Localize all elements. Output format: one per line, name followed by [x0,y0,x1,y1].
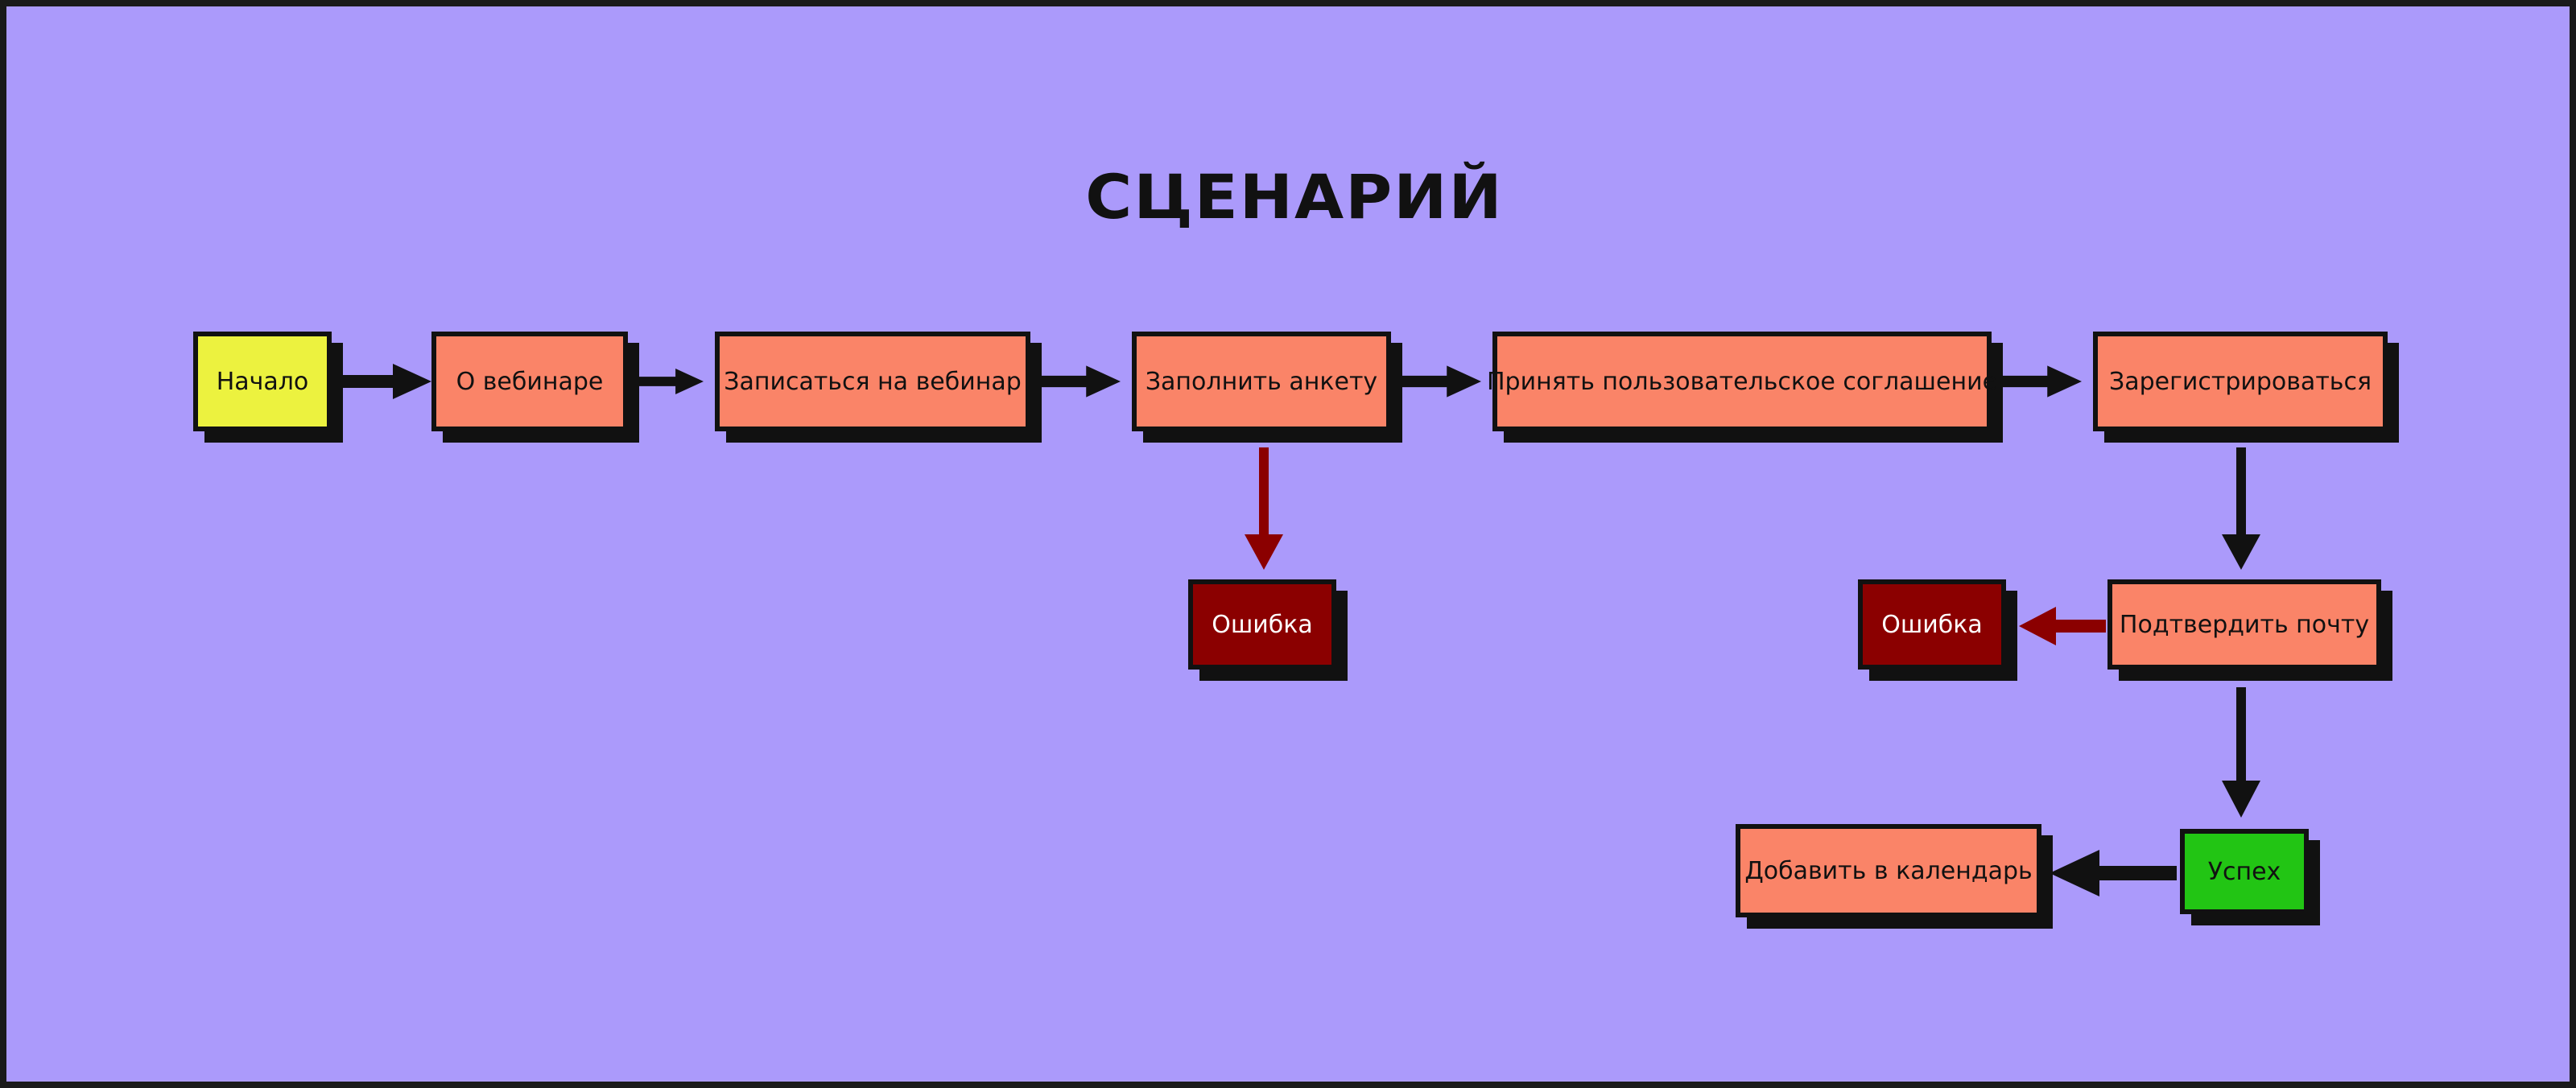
arrow-form-to-agreement [1402,364,1481,399]
node-error-form-label: Ошибка [1212,612,1313,638]
node-confirm-email-label: Подтвердить почту [2120,612,2369,638]
node-accept-agreement-label: Принять пользовательское соглашение [1487,369,1997,395]
node-about-webinar-label: О вебинаре [456,369,604,395]
arrow-start-to-about [343,364,431,399]
arrow-register-to-confirm [2222,447,2260,570]
node-add-to-calendar-label: Добавить в календарь [1744,858,2032,884]
node-start[interactable]: Начало [193,332,332,431]
node-error-mail[interactable]: Ошибка [1858,579,2006,670]
node-add-to-calendar[interactable]: Добавить в календарь [1736,824,2041,917]
arrow-confirm-to-error [2019,607,2106,645]
arrow-agreement-to-register [2003,364,2082,399]
node-success[interactable]: Успех [2180,829,2309,914]
node-about-webinar[interactable]: О вебинаре [431,332,628,431]
node-fill-form-label: Заполнить анкету [1146,369,1377,395]
node-error-form[interactable]: Ошибка [1188,579,1336,670]
arrow-success-to-calendar [2050,850,2177,896]
arrow-form-to-error [1245,447,1283,570]
node-signup-webinar-label: Записаться на вебинар [724,369,1022,395]
node-success-label: Успех [2208,859,2281,885]
page-title: СЦЕНАРИЙ [1060,161,1529,233]
node-start-label: Начало [217,369,309,395]
node-accept-agreement[interactable]: Принять пользовательское соглашение [1492,332,1992,431]
node-fill-form[interactable]: Заполнить анкету [1132,332,1391,431]
node-register-label: Зарегистрироваться [2109,369,2372,395]
node-register[interactable]: Зарегистрироваться [2093,332,2388,431]
node-error-mail-label: Ошибка [1881,612,1983,638]
node-confirm-email[interactable]: Подтвердить почту [2107,579,2381,670]
node-signup-webinar[interactable]: Записаться на вебинар [715,332,1030,431]
diagram-canvas: СЦЕНАРИЙ [0,0,2576,1088]
arrow-signup-to-form [1042,364,1121,399]
diagram-stage: СЦЕНАРИЙ [6,6,2570,1082]
arrow-about-to-signup [639,364,704,399]
arrow-confirm-to-success [2222,687,2260,818]
